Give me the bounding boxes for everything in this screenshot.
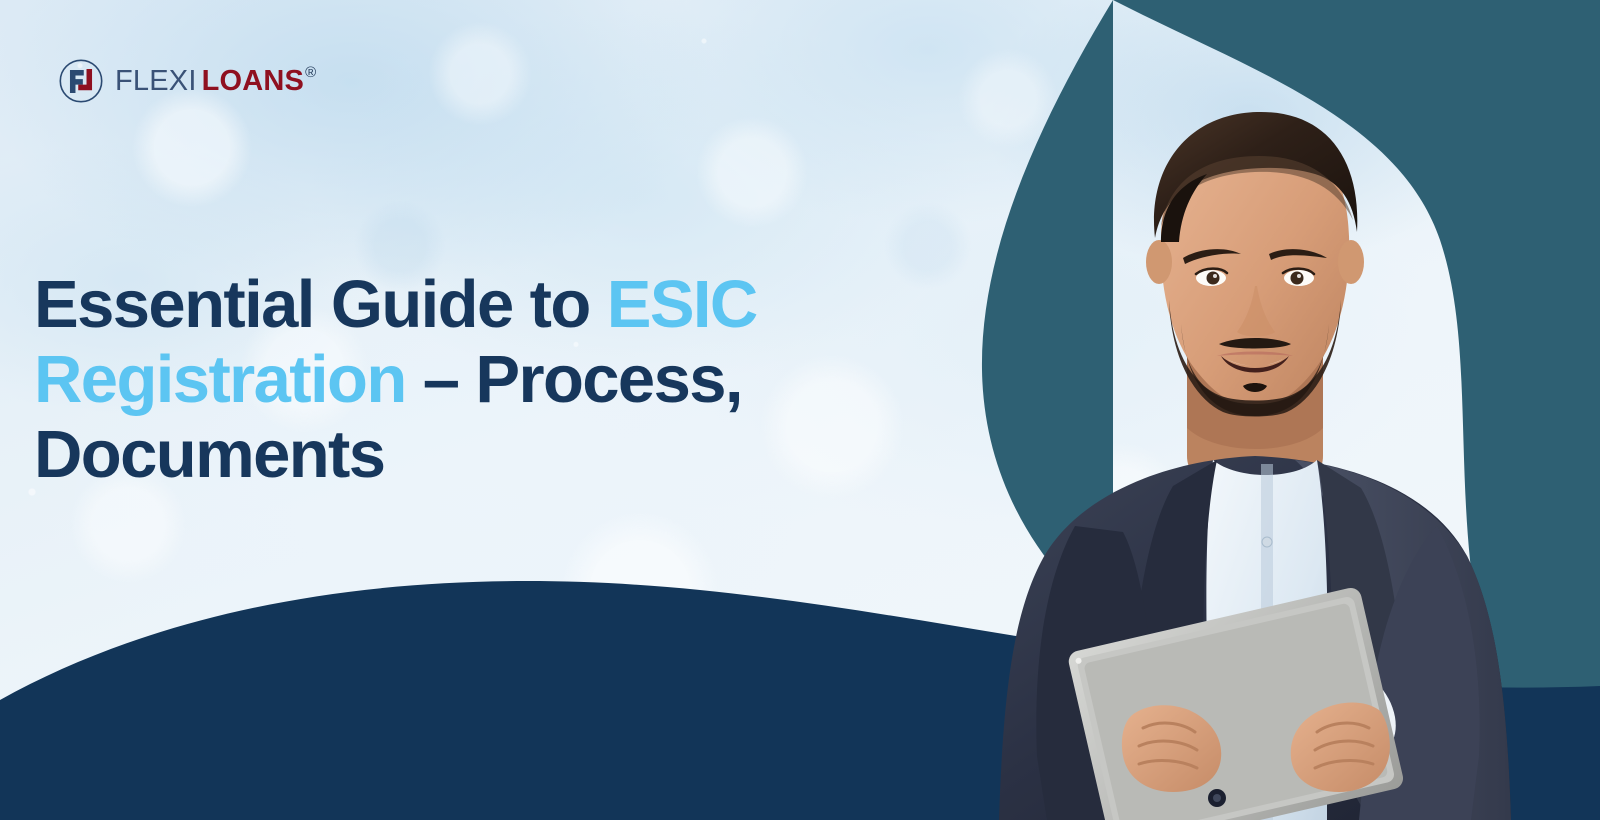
businessman-photo: [955, 56, 1555, 820]
hero-banner: FLEXI LOANS ® Essential Guide to ESIC Re…: [0, 0, 1600, 820]
page-title: Essential Guide to ESIC Registration – P…: [34, 267, 964, 492]
brand-word-primary: FLEXI: [115, 67, 197, 96]
brand-wordmark: FLEXI LOANS ®: [115, 67, 316, 96]
registered-trademark-icon: ®: [305, 65, 316, 80]
flexiloans-monogram-icon: [58, 58, 104, 104]
headline-part-1: Essential Guide to: [34, 267, 607, 342]
brand-word-secondary: LOANS: [202, 67, 305, 96]
brand-logo[interactable]: FLEXI LOANS ®: [58, 58, 316, 104]
